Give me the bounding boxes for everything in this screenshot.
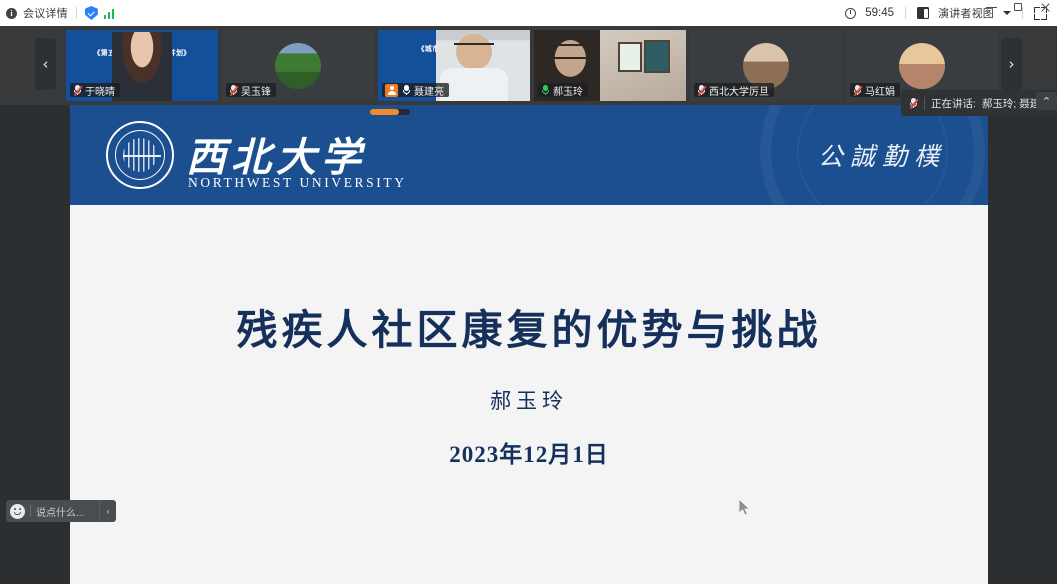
presenter-view-icon[interactable]	[917, 7, 929, 19]
mic-muted-icon	[697, 84, 706, 96]
avatar	[275, 43, 321, 89]
slide-date: 2023年12月1日	[70, 435, 988, 469]
meeting-details-label[interactable]: 会议详情	[23, 5, 68, 21]
university-motto: 公誠勤樸	[818, 137, 946, 173]
info-circle-icon: i	[6, 8, 17, 19]
zoom-meeting-window: 您正在观看聂建亮分享的屏幕 i 会议详情 59:45 演讲者视图 ‹ ›	[0, 0, 1057, 584]
participant-name: 西北大学厉旦	[709, 83, 769, 98]
mic-on-icon	[402, 84, 411, 96]
minimize-icon[interactable]	[986, 2, 997, 13]
slide-header-band: 西北大学 NORTHWEST UNIVERSITY 公誠勤樸	[70, 105, 988, 205]
participant-tile[interactable]: 《第五届返乡工 改发计并划》 主办: 西北大学公共管理学院 于晓晴	[66, 30, 218, 101]
tile-name-tag: 郝玉玲	[538, 83, 588, 97]
mouse-pointer-icon	[739, 499, 752, 517]
mic-muted-icon	[229, 84, 238, 96]
participant-tile-active[interactable]: 郝玉玲	[534, 30, 686, 101]
meeting-timer: 59:45	[865, 7, 894, 19]
signal-bars-icon[interactable]	[104, 8, 115, 19]
clock-icon	[845, 8, 856, 19]
slide-body: 残疾人社区康复的优势与挑战 郝玉玲 2023年12月1日	[70, 205, 988, 584]
currently-speaking-tooltip: 正在讲话: 郝玉玲; 聂建亮	[901, 90, 1057, 116]
tile-person-head	[456, 34, 492, 70]
participant-name: 吴玉锋	[241, 83, 271, 98]
chat-divider	[30, 505, 31, 517]
participant-thumbnail-strip: ‹ › 《第五届返乡工 改发计并划》 主办: 西北大学公共管理学院 于晓晴	[0, 26, 1057, 105]
close-icon[interactable]	[1040, 2, 1051, 13]
mic-on-icon	[541, 84, 550, 96]
tooltip-divider	[924, 97, 925, 110]
slide-title: 残疾人社区康复的优势与挑战	[70, 296, 988, 356]
university-name-en: NORTHWEST UNIVERSITY	[188, 175, 407, 191]
participant-tile[interactable]: 《城市社区嵌入式服务 学习 工程实施方案》 聂建亮	[378, 30, 530, 101]
maximize-icon[interactable]	[1013, 2, 1024, 13]
chat-input-bar[interactable]: 说点什么... ‹	[6, 500, 116, 522]
slide-progress-bar[interactable]	[370, 109, 410, 115]
thumbnail-list: 《第五届返乡工 改发计并划》 主办: 西北大学公共管理学院 于晓晴 吴玉锋	[66, 30, 998, 101]
emoji-smile-icon[interactable]	[10, 504, 25, 519]
toolbar-divider	[76, 7, 77, 19]
participant-name: 马红娟	[865, 83, 895, 98]
tile-name-tag: 马红娟	[850, 83, 900, 97]
mic-muted-icon	[909, 97, 918, 109]
mic-muted-icon	[853, 84, 862, 96]
participant-tile[interactable]: 西北大学厉旦	[690, 30, 842, 101]
tile-name-tag: 西北大学厉旦	[694, 83, 774, 97]
host-badge-icon	[385, 84, 398, 97]
tile-person-glasses	[548, 44, 590, 59]
tile-wall-art-1	[618, 42, 642, 72]
meeting-toolbar: i 会议详情 59:45 演讲者视图	[0, 0, 1057, 26]
tile-person-glasses	[454, 43, 494, 52]
tile-person-body	[440, 68, 508, 101]
presentation-slide[interactable]: 西北大学 NORTHWEST UNIVERSITY 公誠勤樸 残疾人社区康复的优…	[70, 105, 988, 584]
participant-name: 于晓晴	[85, 83, 115, 98]
shared-screen-stage: 西北大学 NORTHWEST UNIVERSITY 公誠勤樸 残疾人社区康复的优…	[0, 105, 1057, 584]
participant-name: 聂建亮	[414, 83, 444, 98]
university-seal-icon	[106, 121, 174, 189]
participant-name: 郝玉玲	[553, 83, 583, 98]
tile-wall-art-2	[644, 40, 670, 73]
shield-check-icon[interactable]	[85, 6, 98, 20]
chat-collapse-button[interactable]: ‹	[99, 500, 116, 522]
toolbar-divider-2	[905, 7, 906, 19]
speaking-prefix: 正在讲话:	[931, 96, 976, 111]
tile-person-video	[112, 32, 172, 101]
tile-name-tag: 吴玉锋	[226, 83, 276, 97]
strip-prev-button[interactable]: ‹	[35, 38, 56, 90]
tile-name-tag: 于晓晴	[70, 83, 120, 97]
chat-input[interactable]: 说点什么...	[36, 504, 99, 519]
window-controls	[986, 0, 1051, 14]
collapse-strip-button[interactable]: ⌃	[1036, 92, 1057, 110]
mic-muted-icon	[73, 84, 82, 96]
tile-name-tag: 聂建亮	[382, 83, 449, 97]
strip-next-button[interactable]: ›	[1001, 38, 1022, 90]
slide-author: 郝玉玲	[70, 385, 988, 415]
toolbar-left-group: i 会议详情	[6, 5, 114, 21]
participant-tile[interactable]: 吴玉锋	[222, 30, 374, 101]
avatar	[899, 43, 945, 89]
